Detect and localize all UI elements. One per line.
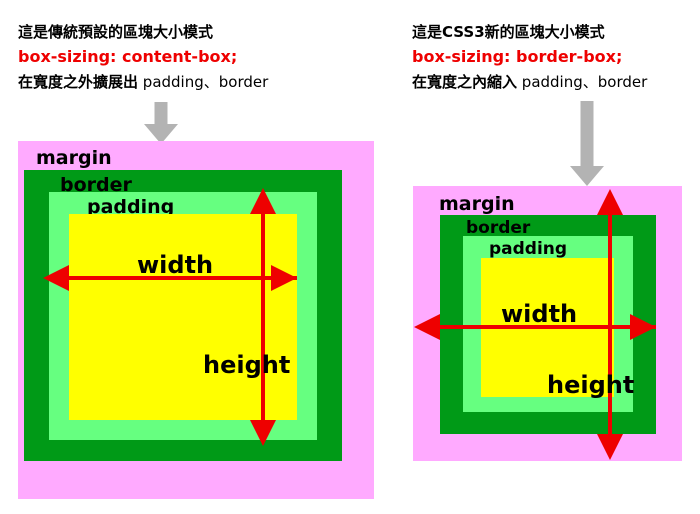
diagram-canvas: 這是傳統預設的區塊大小模式 box-sizing: content-box; 在…: [0, 0, 700, 514]
margin-label: margin: [36, 149, 112, 168]
height-arrow-shaft: [261, 214, 265, 420]
caption-code: box-sizing: content-box;: [18, 44, 268, 70]
width-arrow-head-right: [271, 265, 297, 291]
height-arrow-head-down: [597, 434, 623, 460]
caption-line-3: 在寬度之外擴展出 padding、border: [18, 70, 268, 94]
caption-line-3-zh: 在寬度之內縮入: [412, 73, 517, 91]
height-label: height: [547, 373, 634, 397]
width-arrow-head-left: [414, 314, 440, 340]
width-label: width: [501, 302, 577, 326]
margin-label: margin: [439, 195, 515, 214]
caption-border-box: 這是CSS3新的區塊大小模式 box-sizing: border-box; 在…: [412, 20, 647, 94]
caption-line-3-en: padding、border: [522, 73, 647, 91]
width-arrow-head-left: [43, 265, 69, 291]
height-arrow-head-up: [250, 188, 276, 214]
width-label: width: [137, 253, 213, 277]
padding-label: padding: [489, 241, 567, 258]
down-arrow-grey-icon: [565, 101, 609, 186]
caption-line-3: 在寬度之內縮入 padding、border: [412, 70, 647, 94]
height-arrow-shaft: [608, 215, 612, 434]
caption-code: box-sizing: border-box;: [412, 44, 647, 70]
width-arrow-head-right: [630, 314, 656, 340]
down-arrow-grey-icon: [139, 102, 183, 142]
border-label: border: [466, 220, 530, 237]
height-arrow-head-up: [597, 189, 623, 215]
height-label: height: [203, 353, 290, 377]
caption-line-3-en: padding、border: [143, 73, 268, 91]
height-arrow-head-down: [250, 420, 276, 446]
caption-line-1: 這是CSS3新的區塊大小模式: [412, 20, 647, 44]
caption-content-box: 這是傳統預設的區塊大小模式 box-sizing: content-box; 在…: [18, 20, 268, 94]
caption-line-3-zh: 在寬度之外擴展出: [18, 73, 138, 91]
caption-line-1: 這是傳統預設的區塊大小模式: [18, 20, 268, 44]
